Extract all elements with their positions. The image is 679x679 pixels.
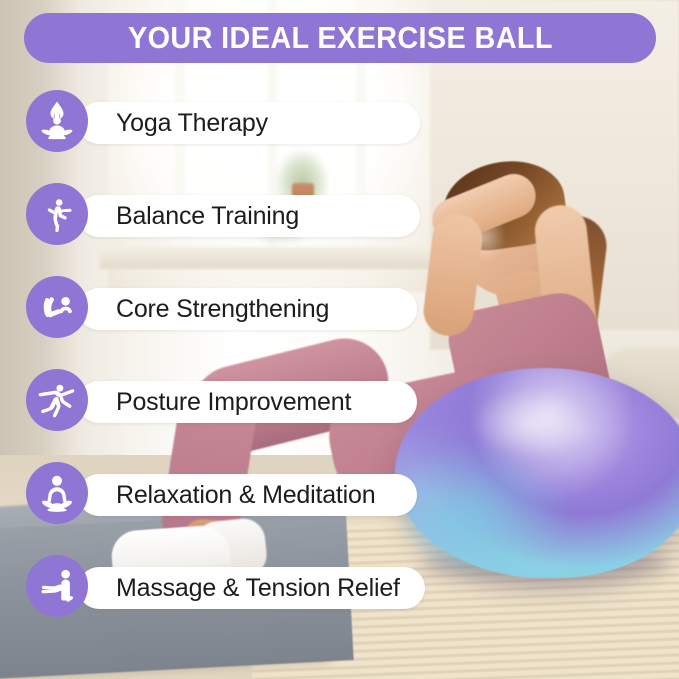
yoga-lotus-arms-up-icon bbox=[26, 90, 88, 152]
feature-pill[interactable]: Balance Training bbox=[78, 195, 420, 237]
massage-therapy-icon bbox=[26, 555, 88, 617]
feature-label: Massage & Tension Relief bbox=[116, 574, 400, 603]
balance-dancer-pose-icon bbox=[26, 183, 88, 245]
core-crunch-icon bbox=[26, 276, 88, 338]
feature-label: Core Strengthening bbox=[116, 295, 329, 324]
feature-row: Massage & Tension Relief bbox=[0, 551, 679, 644]
feature-row: Core Strengthening bbox=[0, 272, 679, 365]
feature-row: Balance Training bbox=[0, 179, 679, 272]
feature-pill[interactable]: Massage & Tension Relief bbox=[78, 567, 425, 609]
feature-pill[interactable]: Relaxation & Meditation bbox=[78, 474, 417, 516]
feature-label: Posture Improvement bbox=[116, 388, 351, 417]
feature-label: Relaxation & Meditation bbox=[116, 481, 375, 510]
feature-pill[interactable]: Yoga Therapy bbox=[78, 102, 420, 144]
feature-row: Posture Improvement bbox=[0, 365, 679, 458]
page-title: YOUR IDEAL EXERCISE BALL bbox=[128, 20, 553, 56]
warrior-pose-icon bbox=[26, 369, 88, 431]
feature-pill[interactable]: Posture Improvement bbox=[78, 381, 417, 423]
feature-list: Yoga Therapy Balance Training bbox=[0, 86, 679, 644]
title-banner: YOUR IDEAL EXERCISE BALL bbox=[24, 13, 656, 63]
feature-pill[interactable]: Core Strengthening bbox=[78, 288, 417, 330]
feature-row: Yoga Therapy bbox=[0, 86, 679, 179]
feature-label: Balance Training bbox=[116, 202, 299, 231]
meditation-lotus-icon bbox=[26, 462, 88, 524]
product-infographic: YOUR IDEAL EXERCISE BALL Yoga Therapy Ba… bbox=[0, 0, 679, 679]
feature-row: Relaxation & Meditation bbox=[0, 458, 679, 551]
feature-label: Yoga Therapy bbox=[116, 109, 268, 138]
